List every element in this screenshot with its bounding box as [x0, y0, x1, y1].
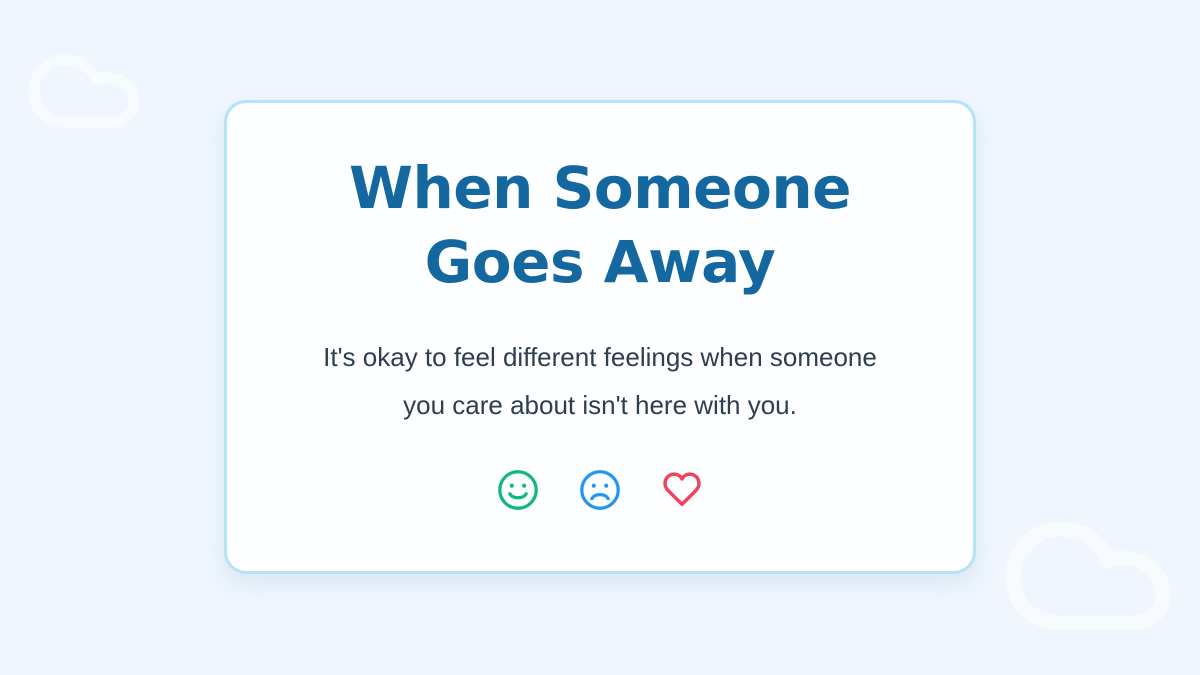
heart-icon-slot[interactable]: [659, 467, 705, 513]
cloud-bottom-right-decoration: [1003, 497, 1200, 637]
heart-icon[interactable]: [659, 467, 705, 513]
page-title: When Someone Goes Away: [290, 151, 910, 299]
sad-face-icon[interactable]: [577, 467, 623, 513]
message-card: When Someone Goes Away It's okay to feel…: [224, 100, 976, 574]
emotion-icon-row: [495, 467, 705, 513]
cloud-top-left-decoration: [28, 36, 158, 132]
sad-face-icon-slot[interactable]: [577, 467, 623, 513]
happy-face-icon-slot[interactable]: [495, 467, 541, 513]
happy-face-icon[interactable]: [495, 467, 541, 513]
page-subtitle: It's okay to feel different feelings whe…: [300, 333, 900, 429]
